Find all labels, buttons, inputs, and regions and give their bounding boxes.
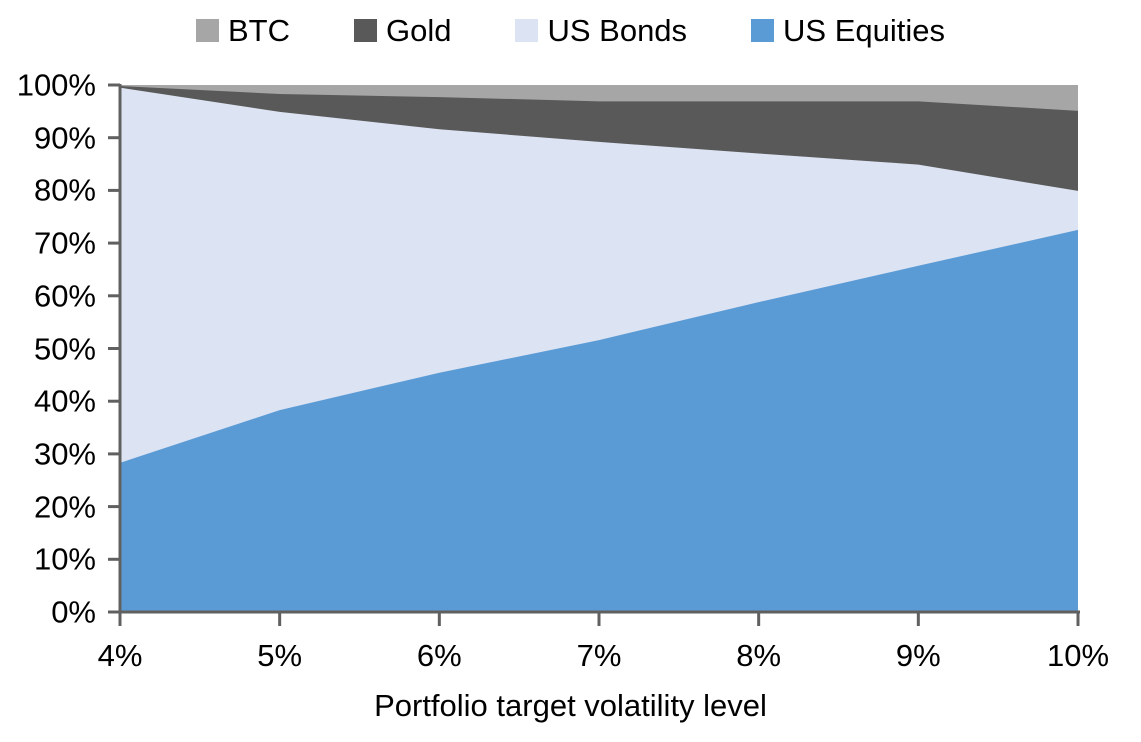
x-axis-title: Portfolio target volatility level (0, 690, 1141, 721)
x-tick-label-7pct: 7% (577, 640, 622, 671)
stacked-area-chart: BTC Gold US Bonds US Equities 0%10%20%30… (0, 0, 1141, 742)
x-tick-label-6pct: 6% (417, 640, 462, 671)
x-tick-label-9pct: 9% (896, 640, 941, 671)
x-tick-label-8pct: 8% (736, 640, 781, 671)
x-axis-tick-labels: 4%5%6%7%8%9%10% (0, 0, 1141, 742)
x-tick-label-5pct: 5% (257, 640, 302, 671)
x-tick-label-10pct: 10% (1047, 640, 1109, 671)
x-tick-label-4pct: 4% (98, 640, 143, 671)
